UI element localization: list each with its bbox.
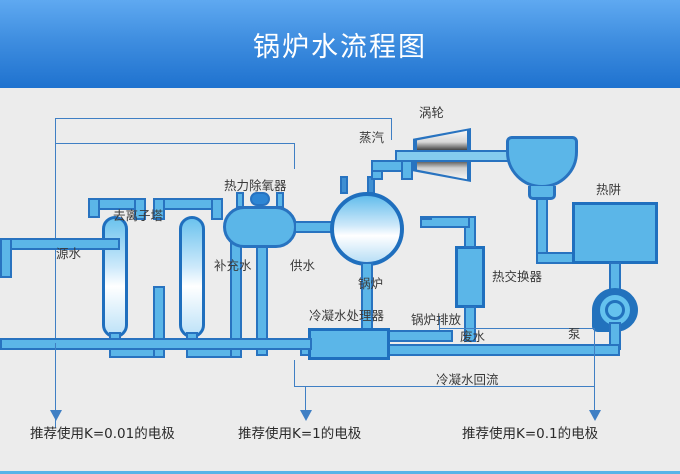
- deionizer-tower-1: [102, 216, 128, 338]
- pipe-steam-down-turbine: [401, 160, 413, 180]
- annotation-line-inner-right: [294, 143, 295, 169]
- annotation-arrow-right: [589, 410, 601, 421]
- annotation-line-center-up: [294, 360, 295, 386]
- label-deionizer-tower: 去离子塔: [113, 210, 163, 223]
- annotation-line-top-outer: [55, 118, 391, 119]
- pipe-source-down: [88, 198, 100, 218]
- label-condensate-processor: 冷凝水处理器: [309, 310, 384, 323]
- annotation-line-right-drop: [594, 328, 595, 418]
- label-makeup-water: 补充水: [214, 260, 252, 273]
- deaerator-dome: [250, 192, 270, 206]
- heat-exchanger-vessel: [455, 246, 485, 308]
- annotation-line-steam-drop: [391, 118, 392, 140]
- label-feed-water: 供水: [290, 260, 315, 273]
- page-title: 锅炉水流程图: [253, 25, 427, 64]
- boiler-vessel: [330, 192, 404, 266]
- label-boiler-blowdown: 锅炉排放: [411, 314, 461, 327]
- heat-sink-vessel: [572, 202, 658, 264]
- condensate-processor-vessel: [308, 328, 390, 360]
- caption-right-electrode: 推荐使用K=0.1的电极: [462, 428, 598, 442]
- caption-center-electrode: 推荐使用K=1的电极: [238, 428, 361, 442]
- label-heat-exchanger: 热交换器: [492, 271, 542, 284]
- condenser-vessel: [506, 136, 578, 188]
- pipe-makeup-riser: [0, 238, 12, 278]
- label-steam: 蒸汽: [359, 132, 384, 145]
- annotation-arrow-left: [50, 410, 62, 421]
- annotation-arrow-center: [300, 410, 312, 421]
- label-pump: 泵: [568, 328, 581, 341]
- boiler-water-flow-diagram-page: 锅炉水流程图: [0, 0, 680, 474]
- deionizer-tower-2: [179, 216, 205, 338]
- caption-left-electrode: 推荐使用K=0.01的电极: [30, 428, 175, 442]
- label-boiler: 锅炉: [358, 278, 383, 291]
- annotation-line-top-inner: [56, 143, 294, 144]
- pipe-condensate-left: [0, 338, 312, 350]
- annotation-line-left-drop: [55, 343, 56, 418]
- turbine-shaft: [395, 150, 515, 162]
- boiler-stack-left: [340, 176, 348, 194]
- pipe-tower2-inlet: [211, 198, 223, 220]
- label-waste-water: 废水: [460, 331, 485, 344]
- pipe-heat-exchanger-riser: [420, 216, 432, 220]
- label-heat-sink: 热阱: [596, 184, 621, 197]
- pump-hub: [608, 303, 622, 317]
- diagram-canvas: 源水 去离子塔 热力除氧器 补充水 供水 锅炉 蒸汽 涡轮 热阱 热交换器 锅炉…: [0, 88, 680, 474]
- label-source-water: 源水: [56, 248, 81, 261]
- label-condensate-return: 冷凝水回流: [436, 374, 499, 387]
- label-thermal-deaerator: 热力除氧器: [224, 180, 287, 193]
- thermal-deaerator-vessel: [223, 206, 297, 248]
- label-turbine: 涡轮: [419, 107, 444, 120]
- page-header: 锅炉水流程图: [0, 0, 680, 88]
